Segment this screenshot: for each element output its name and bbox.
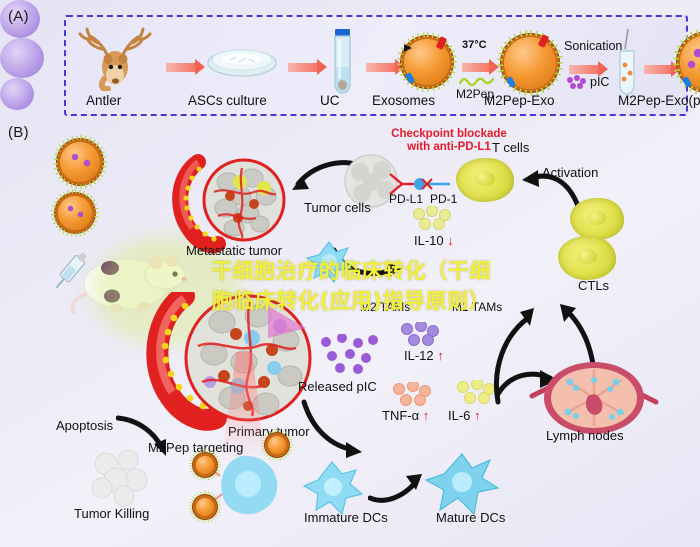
label-pd1: PD-1 <box>430 192 457 206</box>
released-pic-icon <box>318 334 380 374</box>
targeting-exosome-icon <box>268 436 286 454</box>
pic-cargo-dot <box>688 61 695 68</box>
scientific-figure: (A) <box>0 0 700 547</box>
targeting-exosome-icon <box>196 498 214 516</box>
process-arrow-1 <box>166 63 196 72</box>
petri-dish-icon <box>206 45 278 81</box>
label-tnfa: TNF-α ↑ <box>382 408 429 423</box>
tnfa-name: TNF-α <box>382 408 419 423</box>
centrifuge-tube-icon <box>328 27 356 101</box>
pic-cluster-icon <box>566 75 588 91</box>
label-mature-dcs: Mature DCs <box>436 510 505 525</box>
label-immature-dcs: Immature DCs <box>304 510 388 525</box>
il12-particles-icon <box>400 322 444 348</box>
free-exosome-icon <box>58 196 92 230</box>
il10-particles-icon <box>412 206 456 232</box>
step-label-antler: Antler <box>86 93 121 108</box>
dying-tumor-cell-icon <box>84 446 152 508</box>
il6-name: IL-6 <box>448 408 470 423</box>
label-apoptosis: Apoptosis <box>56 418 113 433</box>
label-il10: IL-10 ↓ <box>414 233 454 248</box>
il12-arrow: ↑ <box>437 348 444 363</box>
checkpoint-line1: Checkpoint blockade <box>391 128 507 140</box>
tnfa-particles-icon <box>392 382 436 408</box>
label-il6: IL-6 ↑ <box>448 408 481 423</box>
il10-arrow: ↓ <box>447 233 454 248</box>
pic-cargo-dot <box>78 212 83 217</box>
label-tumor-cells: Tumor cells <box>304 200 371 215</box>
process-arrow-6 <box>644 65 672 74</box>
panel-b-tag: (B) <box>8 124 29 141</box>
watermark-line2: 胞临床转化(应用)指导原则） <box>212 289 490 313</box>
arrow-dc-maturation <box>368 472 430 506</box>
il6-arrow: ↑ <box>474 408 481 423</box>
step-label-exosomes: Exosomes <box>372 93 435 108</box>
step-label-ascs: ASCs culture <box>188 93 267 108</box>
pic-cargo-dot <box>694 49 700 57</box>
targeting-exosome-icon <box>196 456 214 474</box>
panel-a-container: 37°C M2Pep Sonication pIC <box>64 15 688 116</box>
ctl-cell-icon <box>558 236 616 280</box>
watermark-line1: 干细胞治疗的临床转化（干细 <box>211 259 491 283</box>
free-exosome-icon <box>60 142 100 182</box>
sonicator-icon <box>614 29 640 101</box>
m2pep-strand-icon <box>459 75 495 87</box>
metastatic-tumor-icon <box>168 152 298 256</box>
label-t-cells: T cells <box>492 140 529 155</box>
pic-label: pIC <box>590 75 609 89</box>
watermark-text: 干细胞治疗的临床转化（干细 胞临床转化(应用)指导原则） <box>176 256 526 316</box>
ctl-nucleus <box>588 211 606 225</box>
ctl-nucleus <box>577 249 597 264</box>
t-cell-icon <box>456 158 514 202</box>
lymph-node-icon <box>524 358 664 438</box>
pic-cargo-dot <box>84 160 90 166</box>
step-label-uc: UC <box>320 93 340 108</box>
il12-name: IL-12 <box>404 348 434 363</box>
label-released-pic: Released pIC <box>298 379 377 394</box>
panel-a-tag: (A) <box>8 8 29 25</box>
label-tumor-killing: Tumor Killing <box>74 506 149 521</box>
process-arrow-2 <box>288 63 318 72</box>
pic-cargo-dot <box>72 154 78 160</box>
tnfa-arrow: ↑ <box>423 408 430 423</box>
il6-particles-icon <box>456 380 500 406</box>
label-il12: IL-12 ↑ <box>404 348 444 363</box>
label-lymph-nodes: Lymph nodes <box>546 428 624 443</box>
process-arrow-3 <box>366 63 396 72</box>
label-ctls: CTLs <box>578 278 609 293</box>
il10-name: IL-10 <box>414 233 444 248</box>
process-arrow-4 <box>462 63 490 72</box>
process-arrow-5 <box>569 65 599 74</box>
m1-tam-icon <box>0 38 44 78</box>
label-activation: Activation <box>542 165 598 180</box>
label-pdl1: PD-L1 <box>389 192 423 206</box>
t-cell-nucleus <box>475 171 495 186</box>
ctl-cell-icon <box>570 198 624 240</box>
mature-dc-icon <box>424 452 500 518</box>
step-label-m2pep-exo-pic: M2Pep-Exo(pIC) <box>618 93 700 108</box>
step-label-m2pep-exo: M2Pep-Exo <box>484 93 555 108</box>
deer-icon <box>78 23 164 91</box>
pic-cargo-dot <box>68 206 73 211</box>
temperature-label: 37°C <box>462 39 487 51</box>
m1-tam-icon <box>0 78 34 110</box>
checkpoint-line2: with anti-PD-L1 <box>407 141 491 153</box>
